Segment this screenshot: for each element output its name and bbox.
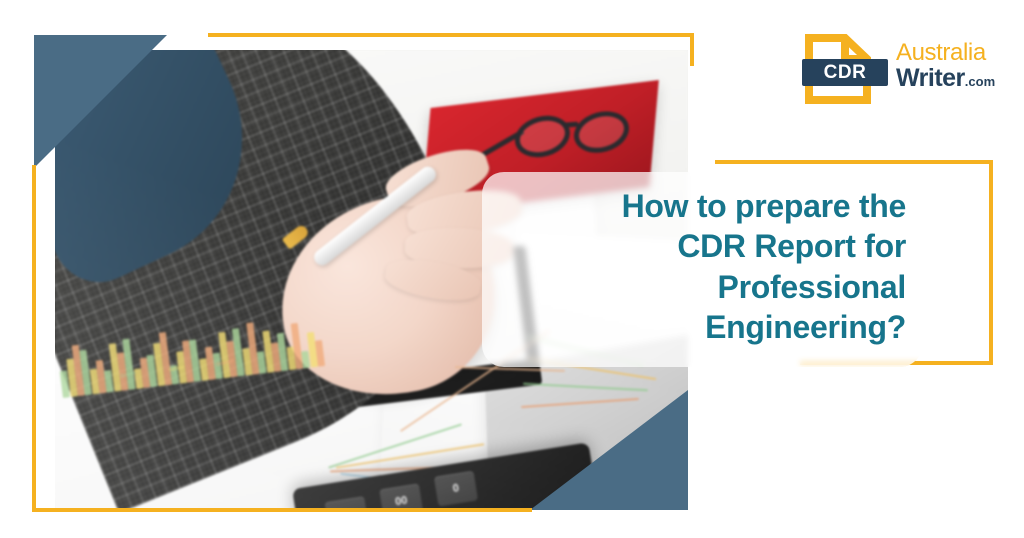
brand-wordmark: Australia Writer.com: [896, 41, 995, 92]
brand-line-australia: Australia: [896, 41, 995, 65]
cdr-badge-text: CDR: [824, 62, 867, 84]
frame-line-top-corner: [690, 33, 694, 66]
decor-triangle-top-left: [34, 35, 167, 168]
frame-line-top: [208, 33, 694, 37]
brand-writer-text: Writer: [896, 64, 965, 92]
calculator-key: 0: [434, 471, 478, 507]
page-title: How to prepare the CDR Report for Profes…: [500, 186, 920, 347]
brand-domain-suffix: .com: [965, 74, 995, 89]
frame-line-bottom: [32, 508, 532, 512]
frame-line-left: [32, 165, 36, 512]
cdr-badge: CDR: [802, 59, 888, 86]
brand-line-writer: Writer.com: [896, 65, 995, 91]
headline-line-4: Engineering?: [500, 307, 906, 347]
decor-triangle-bottom-right: [530, 390, 688, 510]
headline-line-1: How to prepare the: [500, 186, 906, 226]
banner-canvas: GreenYellowOrange .00021: [0, 0, 1024, 538]
frame-line-right: [989, 160, 993, 365]
headline-line-2: CDR Report for: [500, 226, 906, 266]
brand-logo[interactable]: CDR Australia Writer.com: [800, 33, 1005, 105]
calculator-key: 00: [379, 483, 423, 510]
headline-line-3: Professional: [500, 267, 906, 307]
frame-line-right-top: [715, 160, 993, 164]
